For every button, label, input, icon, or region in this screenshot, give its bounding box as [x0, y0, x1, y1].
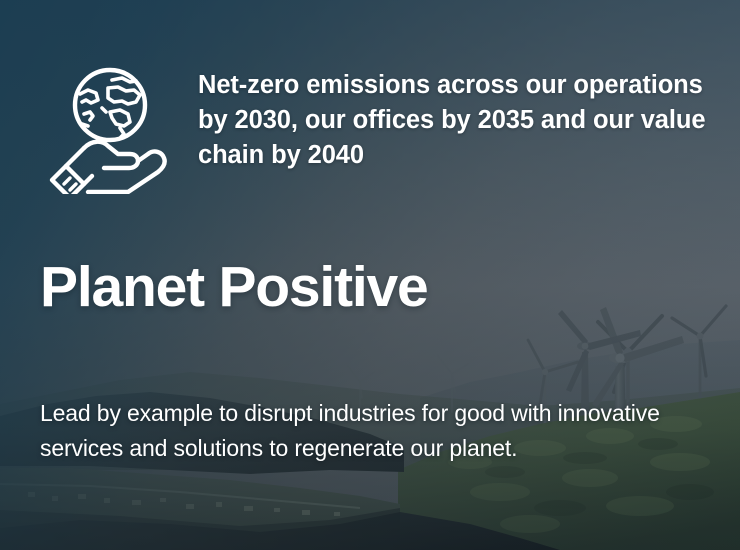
- headline-row: Net-zero emissions across our operations…: [44, 52, 710, 194]
- hand-holding-globe-icon: [44, 62, 172, 194]
- hand-shape: [52, 142, 165, 194]
- page-title: Planet Positive: [40, 258, 428, 318]
- body-copy: Lead by example to disrupt industries fo…: [40, 396, 720, 465]
- globe-continents: [80, 78, 140, 138]
- headline-text: Net-zero emissions across our operations…: [198, 52, 710, 173]
- banner-content: Net-zero emissions across our operations…: [0, 0, 740, 550]
- planet-positive-banner: Net-zero emissions across our operations…: [0, 0, 740, 550]
